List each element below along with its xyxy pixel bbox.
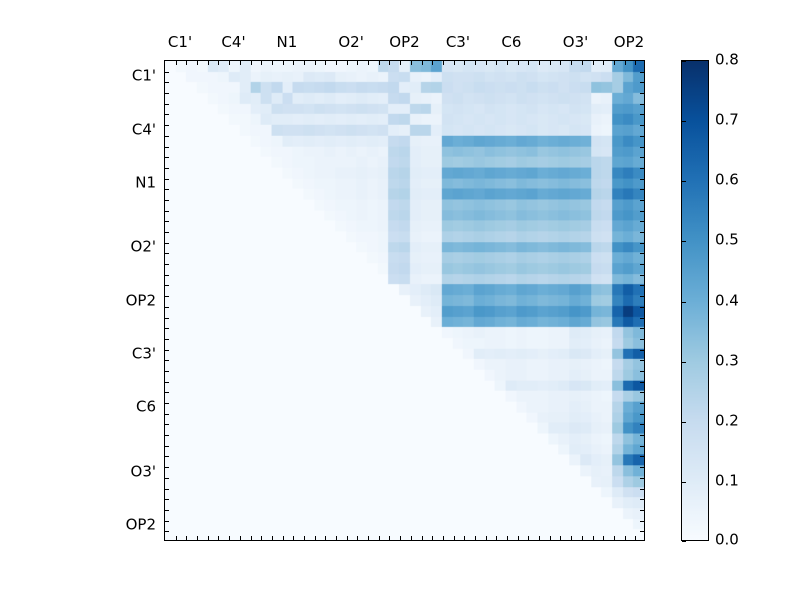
- colorbar-tick-label-0: 0.0: [715, 533, 739, 548]
- colorbar-tick-label-4: 0.4: [715, 294, 739, 309]
- x-tick-label-6: C6: [501, 35, 521, 50]
- x-tick-label-2: N1: [277, 35, 298, 50]
- y-tick-label-6: C6: [136, 400, 156, 415]
- y-tick-label-4: OP2: [126, 293, 156, 308]
- y-tick-label-3: O2': [131, 240, 156, 255]
- x-tick-label-5: C3': [446, 35, 470, 50]
- colorbar-gradient: [682, 61, 708, 540]
- x-tick-label-7: O3': [563, 35, 588, 50]
- y-tick-label-2: N1: [135, 175, 156, 190]
- colorbar-tick-label-3: 0.3: [715, 354, 739, 369]
- colorbar-tick-label-8: 0.8: [715, 53, 739, 68]
- colorbar-tick-label-7: 0.7: [715, 113, 739, 128]
- figure-canvas: C1'C4'N1O2'OP2C3'C6O3'OP2 C1'C4'N1O2'OP2…: [0, 0, 800, 600]
- heatmap-axes[interactable]: [164, 60, 645, 541]
- colorbar-tick-label-2: 0.2: [715, 414, 739, 429]
- colorbar-tick-label-6: 0.6: [715, 173, 739, 188]
- heatmap-image[interactable]: [165, 61, 644, 540]
- x-tick-label-8: OP2: [614, 35, 644, 50]
- x-tick-label-1: C4': [221, 35, 245, 50]
- x-tick-label-3: O2': [338, 35, 363, 50]
- colorbar-tick-label-5: 0.5: [715, 233, 739, 248]
- colorbar[interactable]: [681, 60, 709, 541]
- x-tick-label-0: C1': [168, 35, 192, 50]
- y-tick-label-0: C1': [132, 69, 156, 84]
- x-tick-label-4: OP2: [389, 35, 419, 50]
- y-tick-label-1: C4': [132, 122, 156, 137]
- colorbar-tick-label-1: 0.1: [715, 474, 739, 489]
- y-tick-label-5: C3': [132, 346, 156, 361]
- y-tick-label-8: OP2: [126, 518, 156, 533]
- y-tick-label-7: O3': [131, 464, 156, 479]
